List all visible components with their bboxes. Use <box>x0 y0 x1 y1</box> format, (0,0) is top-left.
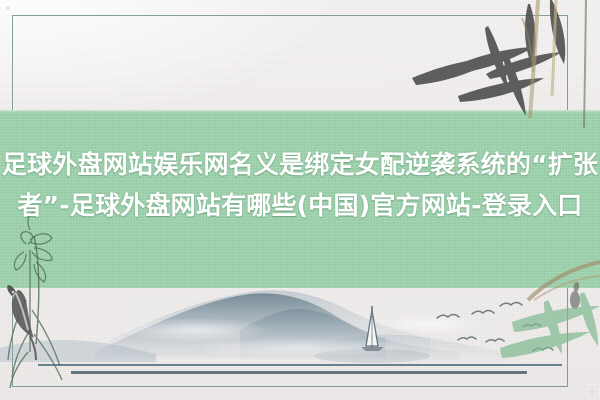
banner-image: 足球外盘网站娱乐网名义是绑定女配逆袭系统的“扩张者”-足球外盘网站有哪些(中国)… <box>0 0 600 400</box>
green-band-top-edge <box>0 110 600 113</box>
divider-rule-lower <box>71 371 527 374</box>
divider-rule-upper <box>38 364 562 366</box>
banner-headline: 足球外盘网站娱乐网名义是绑定女配逆袭系统的“扩张者”-足球外盘网站有哪些(中国)… <box>0 144 600 226</box>
